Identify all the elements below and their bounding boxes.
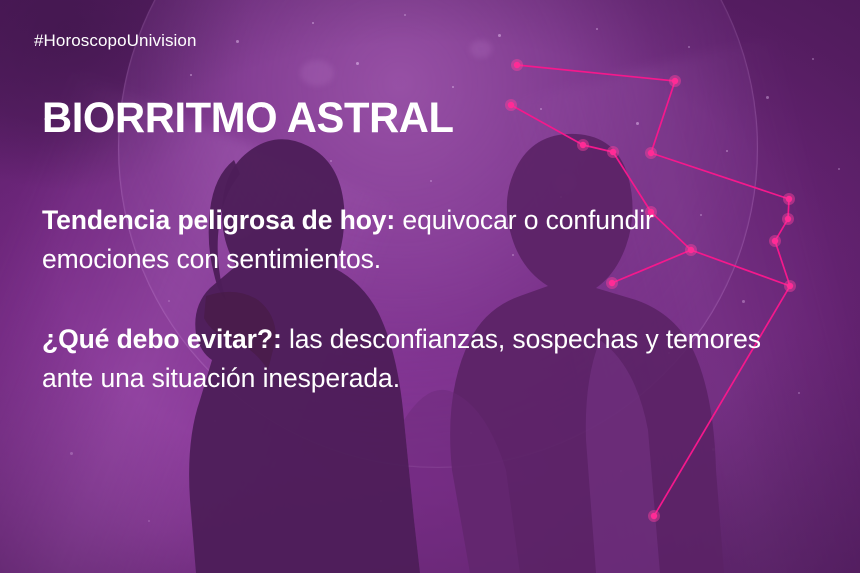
- card-content: #HoroscopoUnivision BIORRITMO ASTRAL Ten…: [0, 0, 860, 573]
- horoscope-card: #HoroscopoUnivision BIORRITMO ASTRAL Ten…: [0, 0, 860, 573]
- paragraph-evitar: ¿Qué debo evitar?: las desconfianzas, so…: [42, 320, 817, 398]
- paragraph-tendencia: Tendencia peligrosa de hoy: equivocar o …: [42, 201, 682, 279]
- paragraph-tendencia-label: Tendencia peligrosa de hoy:: [42, 205, 395, 235]
- hashtag-label: #HoroscopoUnivision: [34, 31, 197, 51]
- page-title: BIORRITMO ASTRAL: [42, 95, 454, 141]
- paragraph-evitar-label: ¿Qué debo evitar?:: [42, 324, 282, 354]
